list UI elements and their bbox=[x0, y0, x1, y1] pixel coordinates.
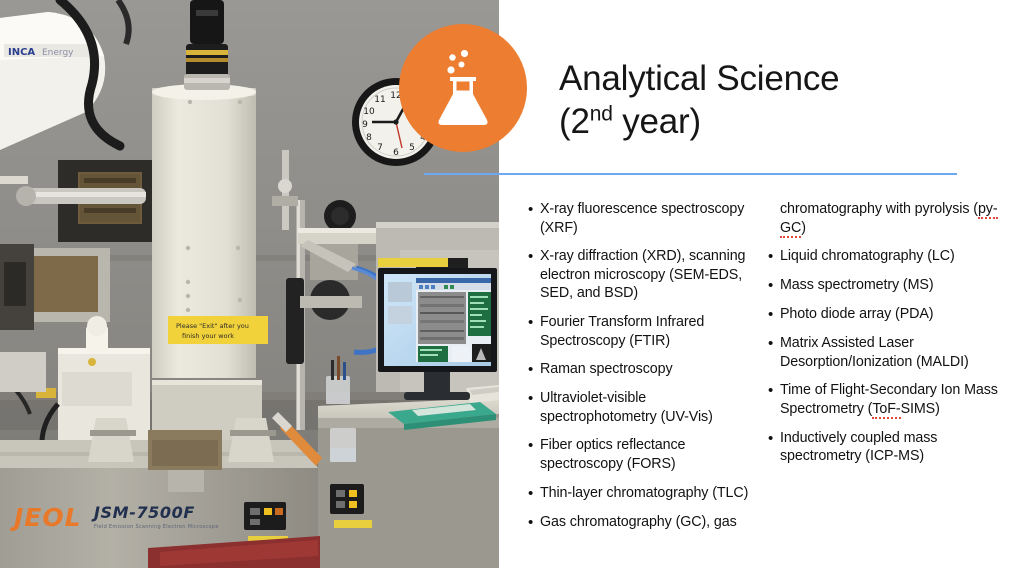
title-year-suffix: year) bbox=[613, 102, 701, 141]
list-item: • Fourier Transform Infrared Spectroscop… bbox=[524, 313, 764, 350]
bullet-text: Photo diode array (PDA) bbox=[780, 305, 1014, 324]
bullet-text: Liquid chromatography (LC) bbox=[780, 247, 1014, 266]
svg-text:finish your work: finish your work bbox=[182, 332, 234, 340]
list-item: • Time of Flight-Secondary Ion Mass Spec… bbox=[764, 381, 1023, 418]
bullet-text: Gas chromatography (GC), gas bbox=[540, 513, 750, 532]
bullet-column-right: • chromatography with pyrolysis (py-GC) … bbox=[764, 200, 1023, 542]
list-item: • Inductively coupled mass spectrometry … bbox=[764, 429, 1023, 466]
bullet-dot-icon: • bbox=[764, 381, 780, 400]
bullet-dot-icon: • bbox=[764, 276, 780, 295]
bullet-dot-icon: • bbox=[524, 389, 540, 408]
bullet-columns: • X-ray fluorescence spectroscopy (XRF) … bbox=[524, 200, 1023, 542]
bullet-dot-icon: • bbox=[524, 436, 540, 455]
list-item: • X-ray fluorescence spectroscopy (XRF) bbox=[524, 200, 764, 237]
list-item: • Photo diode array (PDA) bbox=[764, 305, 1023, 324]
misspelled-word: ToF- bbox=[872, 401, 900, 419]
slide-canvas: INCA Energy bbox=[0, 0, 1023, 577]
svg-text:JSM-7500F: JSM-7500F bbox=[91, 503, 195, 522]
list-item: • Raman spectroscopy bbox=[524, 360, 764, 379]
list-item: • Ultraviolet-visible spectrophotometry … bbox=[524, 389, 764, 426]
page-title: Analytical Science (2nd year) bbox=[559, 57, 989, 143]
bullet-text: Fourier Transform Infrared Spectroscopy … bbox=[540, 313, 750, 350]
bullet-text: Raman spectroscopy bbox=[540, 360, 750, 379]
svg-text:Please "Exit" after you: Please "Exit" after you bbox=[176, 322, 249, 330]
svg-text:8: 8 bbox=[366, 133, 372, 143]
bullet-dot-icon: • bbox=[524, 313, 540, 332]
svg-text:9: 9 bbox=[362, 120, 368, 130]
bullet-dot-icon: • bbox=[764, 305, 780, 324]
bullet-text: chromatography with pyrolysis (py-GC) bbox=[780, 200, 1014, 237]
list-item: • Liquid chromatography (LC) bbox=[764, 247, 1023, 266]
content-panel: Analytical Science (2nd year) • X-ray fl… bbox=[499, 0, 1023, 568]
bullet-dot-icon: • bbox=[524, 200, 540, 219]
bullet-text: Time of Flight-Secondary Ion Mass Spectr… bbox=[780, 381, 1014, 418]
list-item: • Gas chromatography (GC), gas bbox=[524, 513, 764, 532]
title-line-1: Analytical Science bbox=[559, 57, 989, 100]
svg-text:INCA: INCA bbox=[8, 47, 35, 58]
title-year-prefix: (2 bbox=[559, 102, 590, 141]
svg-text:10: 10 bbox=[363, 107, 375, 117]
list-item: • Fiber optics reflectance spectroscopy … bbox=[524, 436, 764, 473]
bullet-text-tail: SIMS) bbox=[901, 401, 940, 417]
svg-text:Energy: Energy bbox=[42, 48, 74, 58]
flask-icon bbox=[436, 50, 490, 126]
bullet-text: Fiber optics reflectance spectroscopy (F… bbox=[540, 436, 750, 473]
list-item: • X-ray diffraction (XRD), scanning elec… bbox=[524, 247, 764, 303]
bullet-text: Inductively coupled mass spectrometry (I… bbox=[780, 429, 1014, 466]
flask-icon-badge bbox=[399, 24, 527, 152]
svg-text:7: 7 bbox=[377, 143, 383, 153]
list-item: • Thin-layer chromatography (TLC) bbox=[524, 484, 764, 503]
list-item-continuation: • chromatography with pyrolysis (py-GC) bbox=[764, 200, 1023, 237]
svg-text:5: 5 bbox=[409, 143, 415, 153]
bullet-dot-icon: • bbox=[524, 513, 540, 532]
bullet-text: Matrix Assisted Laser Desorption/Ionizat… bbox=[780, 334, 1014, 371]
bottom-white-strip bbox=[0, 568, 1023, 577]
bullet-dot-icon: • bbox=[524, 360, 540, 379]
bullet-text-tail: ) bbox=[801, 220, 806, 236]
svg-text:11: 11 bbox=[374, 95, 385, 105]
bullet-text: Mass spectrometry (MS) bbox=[780, 276, 1014, 295]
bullet-text: Thin-layer chromatography (TLC) bbox=[540, 484, 750, 503]
svg-text:JEOL: JEOL bbox=[9, 503, 82, 532]
bullet-text: Ultraviolet-visible spectrophotometry (U… bbox=[540, 389, 750, 426]
bullet-dot-icon: • bbox=[524, 484, 540, 503]
title-divider-line bbox=[424, 173, 957, 175]
bullet-dot-icon: • bbox=[764, 247, 780, 266]
title-line-2: (2nd year) bbox=[559, 100, 989, 143]
title-ordinal-suffix: nd bbox=[590, 102, 613, 125]
list-item: • Matrix Assisted Laser Desorption/Ioniz… bbox=[764, 334, 1023, 371]
bullet-dot-icon: • bbox=[764, 429, 780, 448]
svg-text:Field Emission Scanning Electr: Field Emission Scanning Electron Microsc… bbox=[94, 524, 219, 530]
bullet-dot-icon: • bbox=[764, 334, 780, 353]
list-item: • Mass spectrometry (MS) bbox=[764, 276, 1023, 295]
bullet-text: X-ray diffraction (XRD), scanning electr… bbox=[540, 247, 750, 303]
bullet-column-left: • X-ray fluorescence spectroscopy (XRF) … bbox=[524, 200, 764, 542]
bullet-dot-icon: • bbox=[524, 247, 540, 266]
svg-text:6: 6 bbox=[393, 148, 399, 158]
bullet-text-head: chromatography with pyrolysis ( bbox=[780, 201, 978, 217]
bullet-text: X-ray fluorescence spectroscopy (XRF) bbox=[540, 200, 750, 237]
